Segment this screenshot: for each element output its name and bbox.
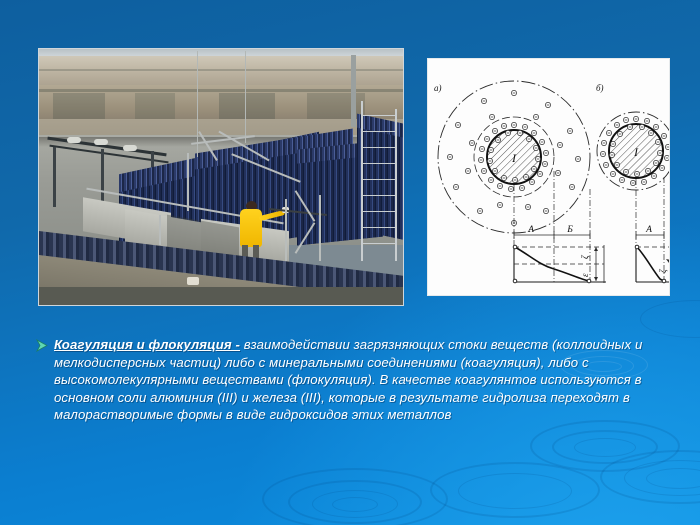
plot-a-vlabel-2: ε bbox=[580, 273, 590, 277]
ripple-decoration bbox=[312, 490, 398, 518]
ripple-decoration bbox=[646, 468, 700, 489]
ripple-decoration bbox=[624, 460, 700, 496]
diagram-panel-a-label: а) bbox=[434, 83, 442, 93]
ripple-decoration bbox=[552, 430, 658, 464]
ripple-decoration bbox=[332, 497, 378, 512]
photo-water-treatment-basin bbox=[38, 48, 404, 306]
diagram-panel-b-label: б) bbox=[596, 83, 604, 93]
ripple-decoration bbox=[530, 420, 680, 472]
plot-a-label-B: Б bbox=[566, 225, 573, 235]
plot-b-vlabel-1: ζ bbox=[658, 268, 668, 273]
paragraph-coagulation-flocculation: Коагуляция и флокуляция - взаимодействии… bbox=[54, 336, 664, 424]
ripple-decoration bbox=[288, 480, 422, 524]
ripple-decoration bbox=[458, 473, 572, 509]
ripple-decoration bbox=[262, 468, 448, 525]
chevron-right-icon bbox=[36, 336, 54, 357]
ripple-decoration bbox=[600, 450, 700, 504]
worker-coat bbox=[240, 209, 262, 247]
plot-a-label-A: А bbox=[527, 225, 534, 235]
ripple-decoration bbox=[640, 300, 700, 338]
paragraph-lead: Коагуляция и флокуляция - bbox=[54, 337, 240, 352]
ripple-decoration bbox=[574, 438, 636, 457]
ripple-decoration bbox=[430, 462, 600, 518]
slide-background: а) I bbox=[0, 0, 700, 525]
diagram-colloid-double-layer: а) I bbox=[427, 58, 670, 296]
slide-body-text: Коагуляция и флокуляция - взаимодействии… bbox=[36, 336, 664, 424]
potential-decay-curve-b bbox=[637, 247, 664, 281]
plot-a-vlabel-1: ζ bbox=[580, 254, 590, 259]
plot-b-label-A: А bbox=[645, 225, 652, 235]
ladder bbox=[361, 101, 403, 261]
